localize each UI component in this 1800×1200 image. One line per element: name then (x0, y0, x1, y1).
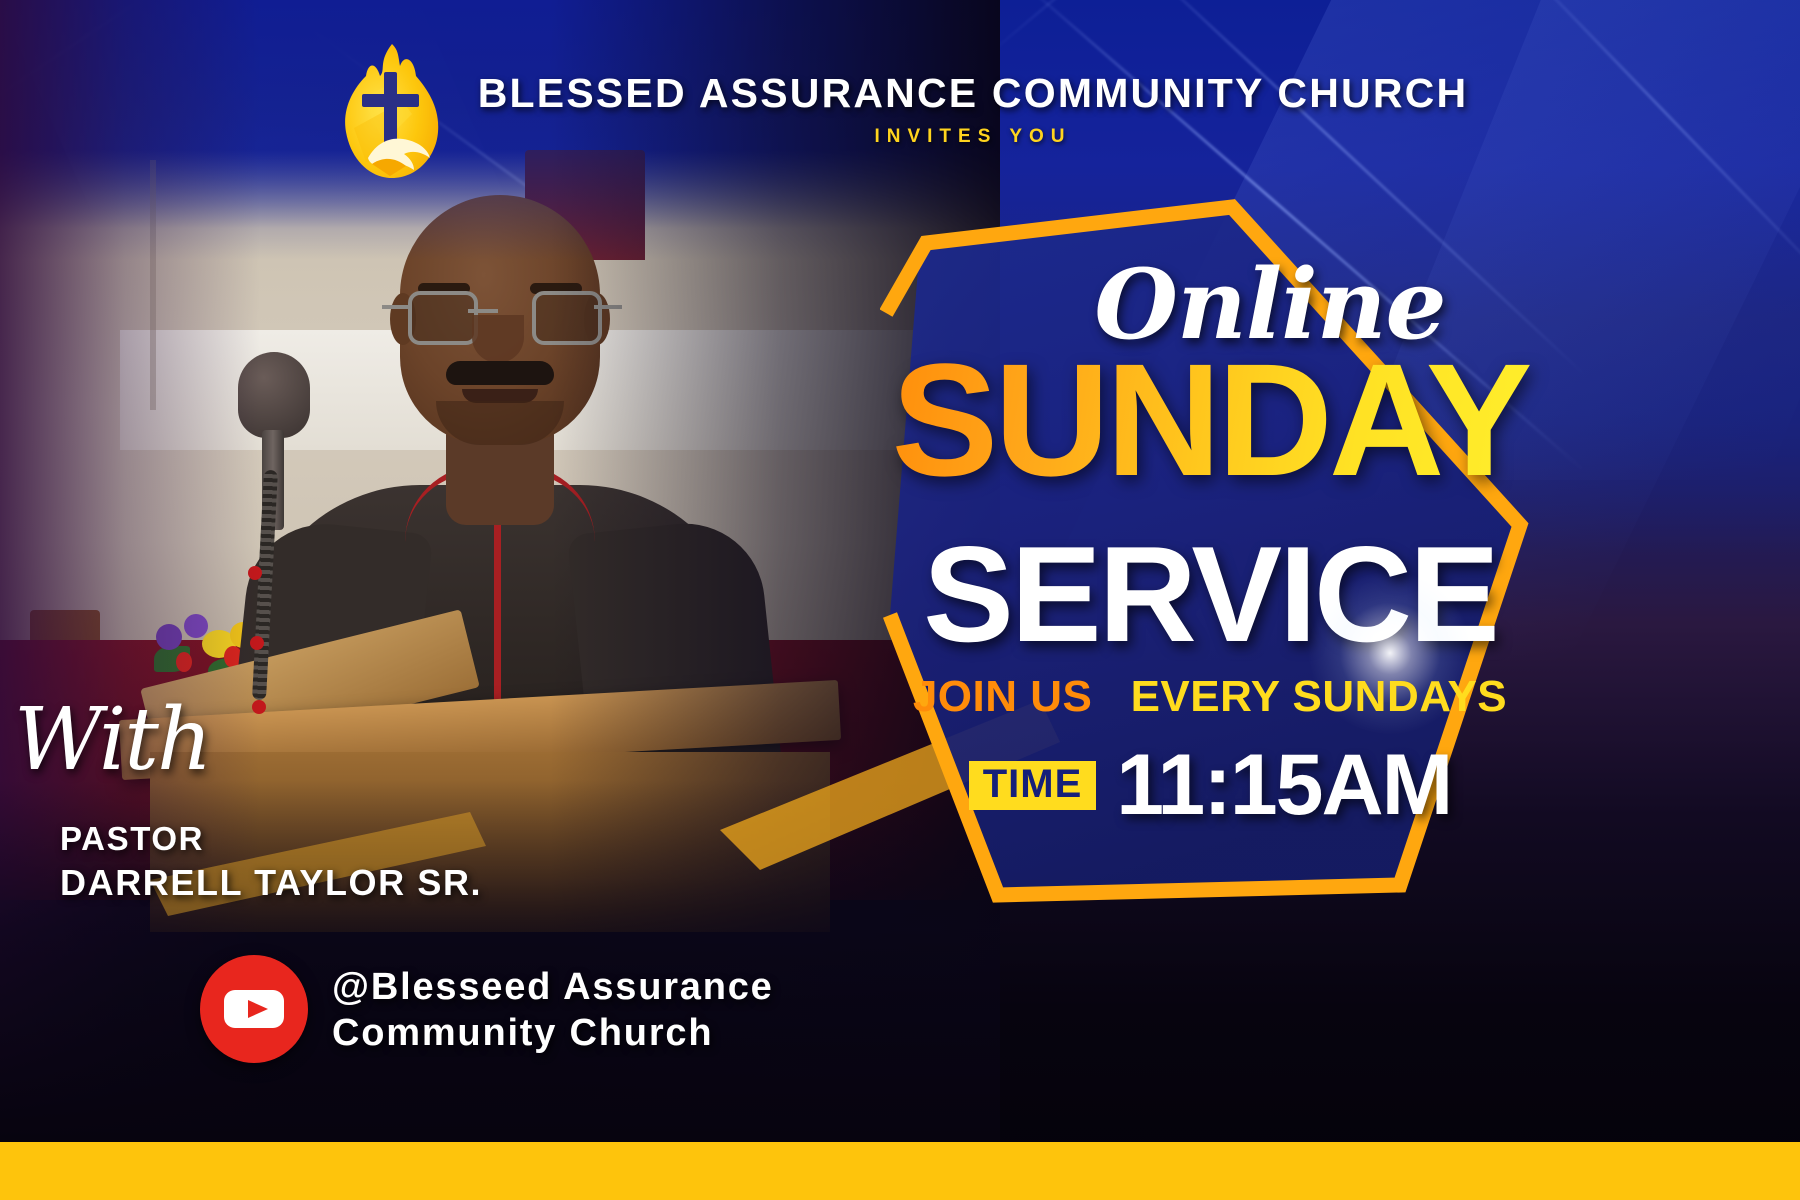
youtube-icon[interactable] (200, 955, 308, 1063)
time-label-badge: TIME (969, 761, 1097, 810)
with-script-label: With (14, 690, 210, 790)
speaker-block: PASTOR DARRELL TAYLOR SR. (60, 818, 680, 906)
subheadline-join-us: JOIN US (913, 672, 1093, 721)
youtube-handle-line1: @Blesseed Assurance (332, 966, 774, 1008)
youtube-handle-row[interactable]: @Blesseed Assurance Community Church (200, 955, 774, 1063)
youtube-handle-line2: Community Church (332, 1012, 713, 1054)
time-value: 11:15AM (1116, 742, 1451, 828)
header-text-group: BLESSED ASSURANCE COMMUNITY CHURCH INVIT… (478, 70, 1469, 148)
headline-service: SERVICE (880, 530, 1540, 659)
subheadline: JOIN US EVERY SUNDAYS (880, 672, 1540, 722)
poster-canvas: Online SUNDAY SERVICE JOIN US EVERY SUND… (0, 0, 1800, 1200)
service-time-row: TIME 11:15AM (880, 742, 1540, 828)
headline-sunday: SUNDAY (880, 346, 1540, 493)
header-bar: BLESSED ASSURANCE COMMUNITY CHURCH INVIT… (0, 34, 1800, 184)
invite-line: INVITES YOU (874, 126, 1071, 148)
footer-bar (0, 1142, 1800, 1200)
speaker-title: PASTOR (60, 818, 680, 860)
subheadline-every-sundays: EVERY SUNDAYS (1131, 672, 1508, 721)
flame-cross-dove-logo-icon (332, 36, 452, 182)
speaker-name: DARRELL TAYLOR SR. (60, 860, 680, 906)
church-name: BLESSED ASSURANCE COMMUNITY CHURCH (478, 70, 1469, 117)
youtube-handle[interactable]: @Blesseed Assurance Community Church (332, 955, 774, 1056)
